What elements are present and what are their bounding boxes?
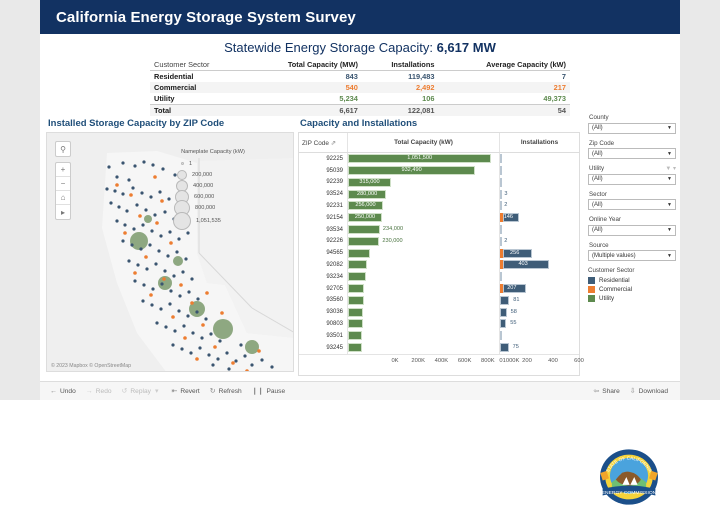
installations-value-label: 256 bbox=[510, 250, 519, 256]
filter-county-select[interactable]: (All) ▼ bbox=[588, 123, 676, 134]
capacity-bar bbox=[348, 343, 362, 352]
row-sector: Residential bbox=[150, 71, 245, 83]
capacity-axis: 0K200K400K600K800K1000K bbox=[347, 355, 499, 374]
table-row[interactable]: 95039932,490 bbox=[299, 165, 579, 177]
filter-sector: Sector (All) ▼ bbox=[588, 191, 676, 211]
revert-label: Revert bbox=[180, 388, 199, 395]
seal-bottom-text: ENERGY COMMISSION bbox=[602, 490, 657, 496]
table-row[interactable]: Residential 843 119,483 7 bbox=[150, 71, 570, 83]
revert-icon: ⇤ bbox=[171, 387, 177, 395]
installations-bar bbox=[500, 166, 502, 175]
chart-header-row: ZIP Code ⇗ Total Capacity (kW) Installat… bbox=[299, 133, 579, 153]
installations-value-label: 2 bbox=[504, 202, 507, 208]
row-sector: Total bbox=[150, 105, 245, 117]
capacity-bar bbox=[348, 249, 370, 258]
col-total-capacity: Total Capacity (MW) bbox=[245, 59, 362, 71]
filter-zip-code: Zip Code (All) ▼ bbox=[588, 140, 676, 160]
row-zip: 92239 bbox=[299, 179, 347, 185]
row-installations: 2,492 bbox=[362, 82, 439, 93]
row-average: 7 bbox=[438, 71, 570, 83]
pause-icon: ❙❙ bbox=[252, 387, 264, 395]
table-row[interactable]: 9356081 bbox=[299, 295, 579, 307]
col-installations: Installations bbox=[362, 59, 439, 71]
installations-bar bbox=[500, 331, 502, 340]
filter-county-value: (All) bbox=[592, 125, 603, 131]
utility-label: Utility bbox=[599, 295, 614, 302]
home-icon[interactable]: ⌂ bbox=[56, 191, 70, 205]
filter-sector-select[interactable]: (All) ▼ bbox=[588, 199, 676, 210]
axis-tick: 400K bbox=[435, 358, 449, 364]
download-icon: ⇩ bbox=[630, 387, 636, 395]
row-installations-cell bbox=[499, 271, 579, 283]
capacity-value-label: 1,051,500 bbox=[407, 155, 432, 161]
dashboard-header: California Energy Storage System Survey bbox=[40, 0, 680, 34]
chevron-down-icon[interactable]: ▼ bbox=[667, 125, 672, 131]
table-row[interactable]: 9303658 bbox=[299, 306, 579, 318]
table-row[interactable]: 922251,051,500 bbox=[299, 153, 579, 165]
utility-swatch bbox=[588, 295, 595, 302]
legend-value: 800,000 bbox=[195, 205, 215, 211]
summary-title-value: 6,617 MW bbox=[437, 40, 496, 55]
dashboard-frame: California Energy Storage System Survey … bbox=[40, 0, 680, 400]
redo-label: Redo bbox=[96, 388, 112, 395]
replay-icon: ↺ bbox=[122, 387, 128, 395]
table-row[interactable]: 92082403 bbox=[299, 259, 579, 271]
row-installations: 106 bbox=[362, 93, 439, 105]
map-legend: Nameplate Capacity (kW) 1 200,000 400,00… bbox=[167, 149, 259, 229]
chevron-down-icon[interactable]: ▼ bbox=[667, 253, 672, 259]
chart-rows: 922251,051,50095039932,49092239315,00093… bbox=[299, 153, 579, 354]
row-capacity-cell bbox=[347, 330, 499, 342]
row-zip: 93234 bbox=[299, 274, 347, 280]
filter-zip-code-label: Zip Code bbox=[589, 140, 676, 147]
row-capacity-cell bbox=[347, 295, 499, 307]
chart-col-zip[interactable]: ZIP Code ⇗ bbox=[299, 133, 347, 152]
legend-item: 1 bbox=[167, 158, 259, 169]
axis-tick: 200 bbox=[522, 358, 532, 364]
capacity-bar bbox=[348, 272, 366, 281]
row-installations-cell: 55 bbox=[499, 318, 579, 330]
legend-value: 1 bbox=[189, 161, 192, 167]
row-capacity-cell: 315,000 bbox=[347, 177, 499, 189]
refresh-icon: ↻ bbox=[210, 387, 216, 395]
capacity-value-label: 230,000 bbox=[382, 238, 402, 244]
row-capacity: 843 bbox=[245, 71, 362, 83]
share-label: Share bbox=[602, 388, 620, 395]
filter-utility: Utility ▼ ▾ (All) ▼ bbox=[588, 165, 676, 185]
pan-icon[interactable]: ▸ bbox=[56, 205, 70, 219]
row-installations-cell: 58 bbox=[499, 306, 579, 318]
col-customer-sector: Customer Sector bbox=[150, 59, 245, 71]
installations-value-label: 58 bbox=[511, 309, 517, 315]
map-search-group[interactable]: ⚲ bbox=[55, 141, 71, 157]
replay-button[interactable]: ↺ Replay ▾ bbox=[122, 387, 162, 395]
axis-tick: 600K bbox=[458, 358, 472, 364]
row-zip: 90803 bbox=[299, 321, 347, 327]
row-capacity-cell bbox=[347, 342, 499, 354]
row-capacity: 5,234 bbox=[245, 93, 362, 105]
table-row[interactable]: Utility 5,234 106 49,373 bbox=[150, 93, 570, 105]
row-installations-cell: 403 bbox=[499, 259, 579, 271]
map-legend-title: Nameplate Capacity (kW) bbox=[167, 149, 259, 155]
installations-bar bbox=[500, 296, 509, 305]
row-installations-cell: 2 bbox=[499, 200, 579, 212]
row-average: 54 bbox=[438, 105, 570, 117]
screenshot-root: California Energy Storage System Survey … bbox=[0, 0, 720, 400]
map-zoom-group[interactable]: + − ⌂ ▸ bbox=[55, 162, 71, 220]
search-icon[interactable]: ⚲ bbox=[56, 142, 70, 156]
row-capacity-cell bbox=[347, 271, 499, 283]
zoom-out-icon[interactable]: − bbox=[56, 177, 70, 191]
chevron-down-icon[interactable]: ▼ bbox=[667, 202, 672, 208]
row-installations: 119,483 bbox=[362, 71, 439, 83]
row-capacity-cell bbox=[347, 318, 499, 330]
filter-online-year: Online Year (All) ▼ bbox=[588, 216, 676, 236]
chevron-down-icon[interactable]: ▼ bbox=[667, 176, 672, 182]
row-installations-cell bbox=[499, 330, 579, 342]
axis-tick: 0K bbox=[391, 358, 398, 364]
undo-icon: ← bbox=[50, 388, 57, 395]
table-row[interactable]: 93534234,000 bbox=[299, 224, 579, 236]
commercial-swatch bbox=[588, 286, 595, 293]
axis-tick: 0 bbox=[499, 358, 502, 364]
row-installations-cell: 75 bbox=[499, 342, 579, 354]
filter-sector-label: Sector bbox=[589, 191, 676, 198]
installations-bar bbox=[500, 225, 502, 234]
table-row[interactable]: 93234 bbox=[299, 271, 579, 283]
row-installations-cell bbox=[499, 165, 579, 177]
row-zip: 92082 bbox=[299, 262, 347, 268]
row-zip: 92225 bbox=[299, 156, 347, 162]
row-capacity: 6,617 bbox=[245, 105, 362, 117]
legend-item-commercial[interactable]: Commercial bbox=[588, 286, 676, 293]
funnel-icon[interactable]: ▼ ▾ bbox=[665, 165, 676, 172]
filter-county-label: County bbox=[589, 114, 676, 121]
capacity-bar bbox=[348, 260, 367, 269]
row-zip: 92154 bbox=[299, 215, 347, 221]
table-row[interactable]: 9080355 bbox=[299, 318, 579, 330]
replay-label: Replay bbox=[130, 388, 151, 395]
installations-bar bbox=[500, 272, 502, 281]
legend-value: 1,051,535 bbox=[196, 218, 221, 224]
table-row[interactable]: 93501 bbox=[299, 330, 579, 342]
chart-title: Capacity and Installations bbox=[300, 118, 580, 129]
pause-label: Pause bbox=[266, 388, 285, 395]
redo-button[interactable]: → Redo bbox=[86, 388, 112, 395]
chart-canvas[interactable]: ZIP Code ⇗ Total Capacity (kW) Installat… bbox=[298, 132, 580, 376]
axis-tick: 400 bbox=[548, 358, 558, 364]
table-row[interactable]: 9324575 bbox=[299, 342, 579, 354]
sort-icon[interactable]: ⇗ bbox=[331, 140, 336, 147]
download-button[interactable]: ⇩ Download bbox=[630, 387, 668, 395]
chevron-down-icon[interactable]: ▼ bbox=[667, 151, 672, 157]
legend-bubble bbox=[177, 170, 187, 180]
legend-item: 200,000 bbox=[167, 169, 259, 180]
installations-value-label: 403 bbox=[518, 261, 527, 267]
commercial-label: Commercial bbox=[599, 286, 632, 293]
row-zip: 92231 bbox=[299, 203, 347, 209]
summary-section: Statewide Energy Storage Capacity: 6,617… bbox=[40, 34, 680, 118]
download-label: Download bbox=[639, 388, 668, 395]
energy-commission-seal: ENERGY COMMISSION STATE OF CALIFORNIA bbox=[596, 448, 664, 508]
installations-bar bbox=[500, 237, 502, 246]
undo-label: Undo bbox=[60, 388, 76, 395]
axis-tick: 600 bbox=[574, 358, 584, 364]
refresh-label: Refresh bbox=[219, 388, 242, 395]
installations-value-label: 2 bbox=[504, 238, 507, 244]
col-average-capacity: Average Capacity (kW) bbox=[438, 59, 570, 71]
row-sector: Utility bbox=[150, 93, 245, 105]
row-zip: 93534 bbox=[299, 227, 347, 233]
row-capacity-cell: 234,000 bbox=[347, 224, 499, 236]
filter-utility-label: Utility ▼ ▾ bbox=[589, 165, 676, 172]
row-capacity-cell: 280,000 bbox=[347, 188, 499, 200]
row-capacity-cell: 256,000 bbox=[347, 200, 499, 212]
chevron-down-icon[interactable]: ▾ bbox=[155, 387, 159, 395]
chart-panel: Capacity and Installations ZIP Code ⇗ To… bbox=[298, 118, 580, 376]
capacity-bar bbox=[348, 225, 380, 234]
row-zip: 93501 bbox=[299, 333, 347, 339]
filter-panel: County (All) ▼ Zip Code (All) ▼ Utility … bbox=[588, 114, 676, 304]
legend-item-utility[interactable]: Utility bbox=[588, 295, 676, 302]
pause-button[interactable]: ❙❙ Pause bbox=[252, 387, 285, 395]
row-zip: 93524 bbox=[299, 191, 347, 197]
capacity-bar bbox=[348, 319, 363, 328]
table-row[interactable]: Commercial 540 2,492 217 bbox=[150, 82, 570, 93]
row-installations-cell bbox=[499, 153, 579, 165]
row-installations-cell: 81 bbox=[499, 295, 579, 307]
row-installations-cell: 207 bbox=[499, 283, 579, 295]
axis-tick: 800K bbox=[481, 358, 495, 364]
capacity-bar bbox=[348, 308, 363, 317]
summary-table: Customer Sector Total Capacity (MW) Inst… bbox=[150, 59, 570, 116]
map-panel: Installed Storage Capacity by ZIP Code bbox=[46, 118, 294, 372]
row-capacity-cell: 250,000 bbox=[347, 212, 499, 224]
zoom-in-icon[interactable]: + bbox=[56, 163, 70, 177]
installations-bar bbox=[500, 178, 502, 187]
installations-value-label: 207 bbox=[507, 285, 516, 291]
installations-bar bbox=[500, 201, 502, 210]
redo-icon: → bbox=[86, 388, 93, 395]
table-row[interactable]: 92231256,0002 bbox=[299, 200, 579, 212]
legend-value: 200,000 bbox=[192, 172, 212, 178]
installations-axis: 0200400600 bbox=[499, 355, 579, 374]
row-installations-cell bbox=[499, 224, 579, 236]
row-capacity-cell: 1,051,500 bbox=[347, 153, 499, 165]
filter-utility-select[interactable]: (All) ▼ bbox=[588, 174, 676, 185]
capacity-bar bbox=[348, 331, 362, 340]
filter-utility-value: (All) bbox=[592, 176, 603, 182]
residential-swatch bbox=[588, 277, 595, 284]
capacity-value-label: 280,000 bbox=[357, 191, 377, 197]
undo-button[interactable]: ← Undo bbox=[50, 388, 76, 395]
row-zip: 92226 bbox=[299, 238, 347, 244]
table-row[interactable]: 93524280,0003 bbox=[299, 188, 579, 200]
share-button[interactable]: ⇦ Share bbox=[593, 387, 619, 395]
capacity-bar bbox=[348, 296, 364, 305]
map-attribution: © 2023 Mapbox © OpenStreetMap bbox=[51, 363, 131, 369]
table-row-total[interactable]: Total 6,617 122,081 54 bbox=[150, 105, 570, 117]
installations-bar bbox=[500, 154, 502, 163]
row-capacity-cell: 230,000 bbox=[347, 236, 499, 248]
chart-col-capacity: Total Capacity (kW) bbox=[347, 133, 499, 152]
row-capacity: 540 bbox=[245, 82, 362, 93]
map-title: Installed Storage Capacity by ZIP Code bbox=[48, 118, 294, 129]
filter-online-year-value: (All) bbox=[592, 227, 603, 233]
row-average: 49,373 bbox=[438, 93, 570, 105]
legend-value: 400,000 bbox=[193, 183, 213, 189]
filter-source: Source (Multiple values) ▼ bbox=[588, 242, 676, 262]
installations-bar bbox=[500, 319, 506, 328]
legend-item: 1,051,535 bbox=[167, 213, 259, 229]
row-zip: 95039 bbox=[299, 168, 347, 174]
bottom-toolbar: ← Undo → Redo ↺ Replay ▾ ⇤ Revert ↻ Refr… bbox=[40, 381, 680, 400]
summary-title: Statewide Energy Storage Capacity: 6,617… bbox=[40, 40, 680, 55]
legend-bubble bbox=[173, 212, 191, 230]
chart-col-zip-label: ZIP Code bbox=[302, 140, 329, 147]
capacity-value-label: 315,000 bbox=[359, 179, 379, 185]
installations-bar bbox=[500, 308, 507, 317]
row-installations-cell: 2 bbox=[499, 236, 579, 248]
row-zip: 93560 bbox=[299, 297, 347, 303]
capacity-bar bbox=[348, 284, 364, 293]
row-installations-cell bbox=[499, 177, 579, 189]
map-canvas[interactable]: ⚲ + − ⌂ ▸ Nameplate Capacity (kW) 1 bbox=[46, 132, 294, 372]
row-installations-cell: 256 bbox=[499, 247, 579, 259]
legend-item-residential[interactable]: Residential bbox=[588, 277, 676, 284]
table-row[interactable]: 94565256 bbox=[299, 247, 579, 259]
installations-value-label: 3 bbox=[504, 191, 507, 197]
sector-legend-title: Customer Sector bbox=[588, 267, 676, 274]
table-header-row: Customer Sector Total Capacity (MW) Inst… bbox=[150, 59, 570, 71]
axis-tick: 200K bbox=[411, 358, 425, 364]
filter-zip-code-select[interactable]: (All) ▼ bbox=[588, 148, 676, 159]
page-title: California Energy Storage System Survey bbox=[56, 9, 356, 26]
summary-title-prefix: Statewide Energy Storage Capacity: bbox=[224, 40, 436, 55]
filter-source-label: Source bbox=[589, 242, 676, 249]
row-capacity-cell: 932,490 bbox=[347, 165, 499, 177]
legend-value: 600,000 bbox=[194, 194, 214, 200]
row-capacity-cell bbox=[347, 247, 499, 259]
row-zip: 92705 bbox=[299, 286, 347, 292]
row-capacity-cell bbox=[347, 283, 499, 295]
installations-value-label: 75 bbox=[513, 344, 519, 350]
installations-bar bbox=[500, 190, 502, 199]
row-installations: 122,081 bbox=[362, 105, 439, 117]
row-average: 217 bbox=[438, 82, 570, 93]
installations-value-label: 81 bbox=[513, 297, 519, 303]
row-capacity-cell bbox=[347, 259, 499, 271]
table-row[interactable]: 92154250,000146 bbox=[299, 212, 579, 224]
installations-bar bbox=[500, 343, 509, 352]
row-zip: 93245 bbox=[299, 345, 347, 351]
residential-label: Residential bbox=[599, 277, 630, 284]
filter-source-select[interactable]: (Multiple values) ▼ bbox=[588, 250, 676, 261]
filter-county: County (All) ▼ bbox=[588, 114, 676, 134]
capacity-value-label: 932,490 bbox=[401, 167, 421, 173]
revert-button[interactable]: ⇤ Revert bbox=[171, 387, 199, 395]
row-sector: Commercial bbox=[150, 82, 245, 93]
table-row[interactable]: 92239315,000 bbox=[299, 177, 579, 189]
map-controls[interactable]: ⚲ + − ⌂ ▸ bbox=[55, 141, 71, 225]
table-row[interactable]: 92705207 bbox=[299, 283, 579, 295]
legend-bubble bbox=[181, 162, 184, 165]
chevron-down-icon[interactable]: ▼ bbox=[667, 227, 672, 233]
table-row[interactable]: 92226230,0002 bbox=[299, 236, 579, 248]
share-icon: ⇦ bbox=[593, 387, 599, 395]
refresh-button[interactable]: ↻ Refresh bbox=[210, 387, 242, 395]
installations-value-label: 55 bbox=[510, 320, 516, 326]
row-capacity-cell bbox=[347, 306, 499, 318]
dashboard-body: Installed Storage Capacity by ZIP Code bbox=[40, 118, 680, 380]
capacity-value-label: 250,000 bbox=[355, 214, 375, 220]
filter-sector-value: (All) bbox=[592, 202, 603, 208]
capacity-bar bbox=[348, 237, 379, 246]
row-installations-cell: 146 bbox=[499, 212, 579, 224]
capacity-value-label: 234,000 bbox=[383, 226, 403, 232]
installations-value-label: 146 bbox=[504, 214, 513, 220]
chart-axis: 0K200K400K600K800K1000K 0200400600 bbox=[299, 354, 579, 374]
filter-zip-code-value: (All) bbox=[592, 151, 603, 157]
row-zip: 94565 bbox=[299, 250, 347, 256]
capacity-value-label: 256,000 bbox=[355, 202, 375, 208]
sector-legend: Customer Sector Residential Commercial U… bbox=[588, 267, 676, 302]
chart-col-installations: Installations bbox=[499, 133, 579, 152]
filter-source-value: (Multiple values) bbox=[592, 253, 636, 259]
seal-graphic: ENERGY COMMISSION STATE OF CALIFORNIA bbox=[596, 448, 662, 506]
row-installations-cell: 3 bbox=[499, 188, 579, 200]
row-zip: 93036 bbox=[299, 309, 347, 315]
filter-online-year-select[interactable]: (All) ▼ bbox=[588, 225, 676, 236]
filter-online-year-label: Online Year bbox=[589, 216, 676, 223]
